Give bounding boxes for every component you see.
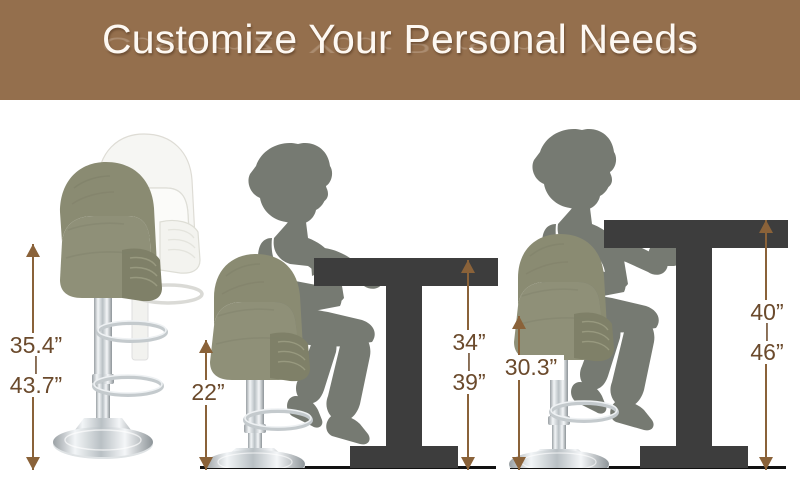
dimension-value-max: 43.7” — [5, 373, 67, 398]
dimension-value-max: 39” — [446, 370, 492, 395]
dimension-value: 22” — [186, 380, 230, 405]
page-title: Customize Your Personal Needs — [0, 16, 800, 63]
dimension-separator: | — [5, 358, 67, 373]
dimension-label-table-40-46: 40” | 46” — [744, 300, 790, 364]
arrow-head-up — [461, 260, 475, 273]
dimension-separator: | — [446, 355, 492, 370]
dimension-label-table-34-39: 34” | 39” — [446, 330, 492, 394]
stool-chrome-base — [53, 298, 166, 459]
dimension-label-seat-30: 30.3” — [498, 355, 564, 380]
illustration-stage: 35.4” | 43.7” — [0, 100, 800, 494]
dimension-arrow-seat-30 — [511, 316, 527, 470]
arrow-head-down — [199, 457, 213, 470]
dimension-separator: | — [744, 325, 790, 340]
dimension-label-seat-22: 22” — [186, 380, 230, 405]
dimension-label-stool-range: 35.4” | 43.7” — [5, 333, 67, 397]
arrow-head-down — [759, 457, 773, 470]
arrow-head-up — [26, 244, 40, 257]
arrow-head-down — [461, 457, 475, 470]
arrow-head-up — [199, 340, 213, 353]
infographic-page: Customize Your Personal Needs Customize … — [0, 0, 800, 494]
dimension-value: 30.3” — [498, 355, 564, 380]
header-banner: Customize Your Personal Needs Customize … — [0, 0, 800, 100]
stool-chair-solid-3 — [514, 234, 614, 361]
stool-panel2 — [196, 248, 356, 468]
stool-group-panel1 — [40, 118, 220, 466]
arrow-head-down — [512, 457, 526, 470]
arrow-shaft — [205, 340, 207, 470]
arrow-shaft — [518, 316, 520, 470]
stool-chair-solid-2 — [210, 254, 310, 381]
arrow-head-down — [26, 457, 40, 470]
arrow-head-up — [512, 316, 526, 329]
dimension-value-max: 46” — [744, 340, 790, 365]
arrow-head-up — [759, 220, 773, 233]
dimension-arrow-seat-22 — [198, 340, 214, 470]
